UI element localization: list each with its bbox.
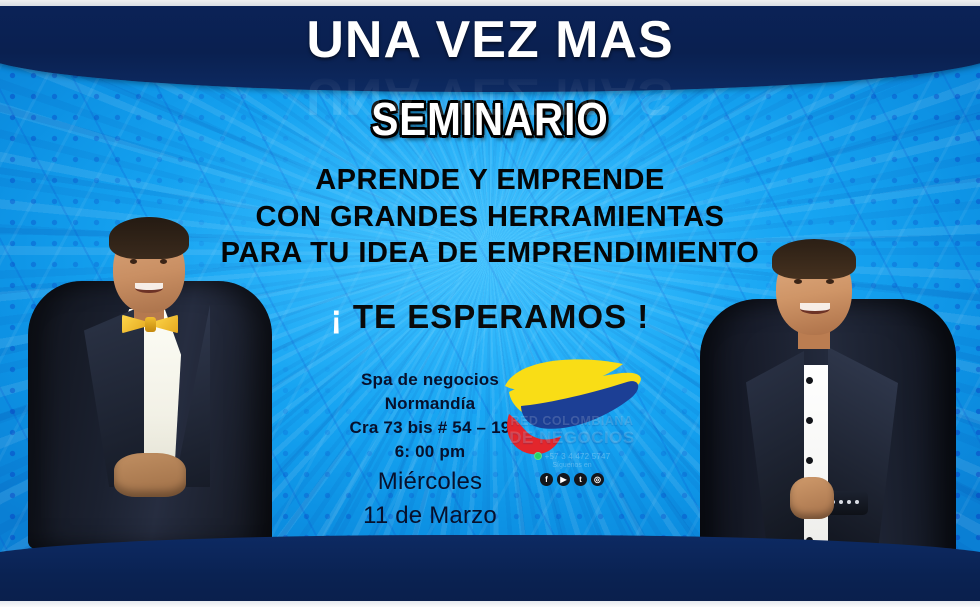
headline-line-2: CON GRANDES HERRAMIENTAS <box>0 199 980 236</box>
logo-watermark-text: RED COLOMBIANA DE NEGOCIOS <box>487 414 657 447</box>
top-banner-title: UNA VEZ MAS <box>0 10 980 70</box>
whatsapp-icon <box>534 452 542 460</box>
social-media-row: f ▶ t ◎ <box>487 473 657 486</box>
logo-watermark-line-2: DE NEGOCIOS <box>487 428 657 447</box>
call-to-action: ¡ TE ESPERAMOS ! <box>0 298 980 336</box>
twitter-icon[interactable]: t <box>574 473 587 486</box>
headline-block: APRENDE Y EMPRENDE CON GRANDES HERRAMIEN… <box>0 162 980 272</box>
seminar-label: SEMINARIO <box>59 92 921 146</box>
headline-line-1: APRENDE Y EMPRENDE <box>0 162 980 199</box>
youtube-icon[interactable]: ▶ <box>557 473 570 486</box>
venue-date: 11 de Marzo <box>330 499 530 533</box>
follow-label: Síguenos en <box>487 462 657 469</box>
headline-line-3: PARA TU IDEA DE EMPRENDIMIENTO <box>0 235 980 272</box>
top-edge-strip <box>0 0 980 6</box>
inverted-exclamation-mark: ¡ <box>331 298 343 335</box>
organization-logo: RED COLOMBIANA DE NEGOCIOS +57 3 4 472 5… <box>487 352 657 502</box>
exclamation-mark: ! <box>637 298 649 335</box>
facebook-icon[interactable]: f <box>540 473 553 486</box>
logo-watermark-line-1: RED COLOMBIANA <box>487 414 657 428</box>
promotional-flyer: SEMINARIO APRENDE Y EMPRENDE CON GRANDES… <box>0 0 980 607</box>
instagram-icon[interactable]: ◎ <box>591 473 604 486</box>
logo-phone-number: +57 3 4 472 5747 <box>487 452 657 461</box>
call-to-action-text: TE ESPERAMOS <box>353 298 627 335</box>
bottom-edge-strip <box>0 601 980 607</box>
bottom-navy-banner <box>0 535 980 603</box>
phone-number-text: +57 3 4 472 5747 <box>545 452 611 461</box>
